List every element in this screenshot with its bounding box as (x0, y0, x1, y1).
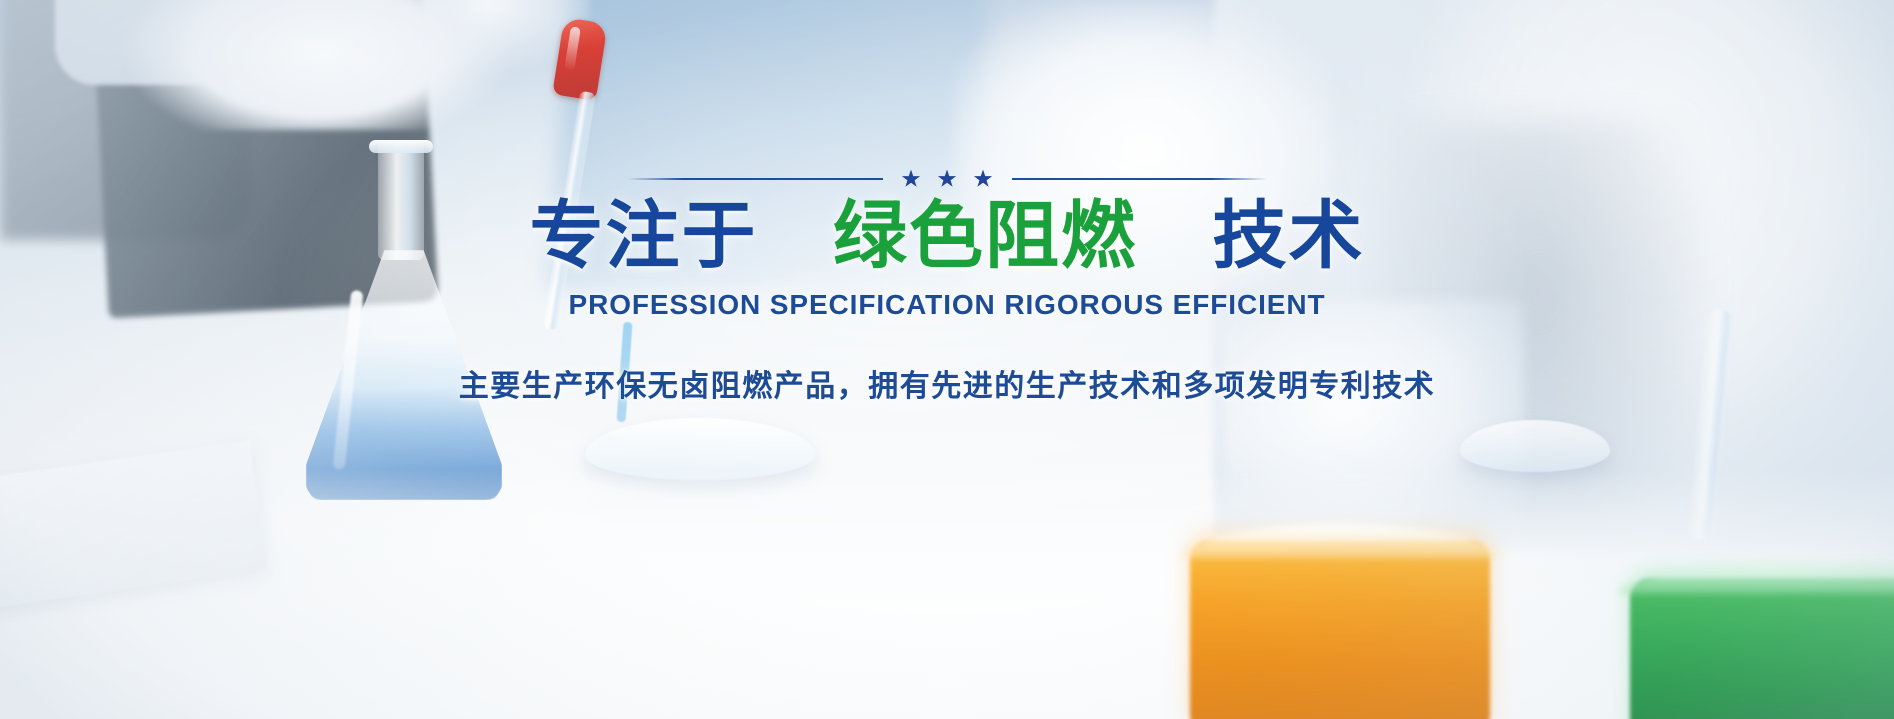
banner-tagline: 主要生产环保无卤阻燃产品，拥有先进的生产技术和多项发明专利技术 (459, 361, 1436, 405)
decorative-divider (627, 168, 1267, 190)
divider-rule-left (627, 178, 883, 180)
banner-subtitle: PROFESSION SPECIFICATION RIGOROUS EFFICI… (569, 289, 1326, 321)
divider-rule-right (1012, 178, 1268, 180)
star-group (883, 170, 1012, 189)
star-icon (938, 170, 957, 189)
page-title: 专注于 绿色阻燃 技术 (529, 198, 1364, 275)
headline-part-1: 专注于 (529, 193, 757, 279)
headline-part-2: 绿色阻燃 (833, 193, 1137, 279)
star-icon (902, 170, 921, 189)
hero-banner: 专注于 绿色阻燃 技术 PROFESSION SPECIFICATION RIG… (0, 0, 1894, 719)
star-icon (974, 170, 993, 189)
banner-content: 专注于 绿色阻燃 技术 PROFESSION SPECIFICATION RIG… (0, 0, 1894, 719)
headline-part-3: 技术 (1213, 193, 1365, 279)
